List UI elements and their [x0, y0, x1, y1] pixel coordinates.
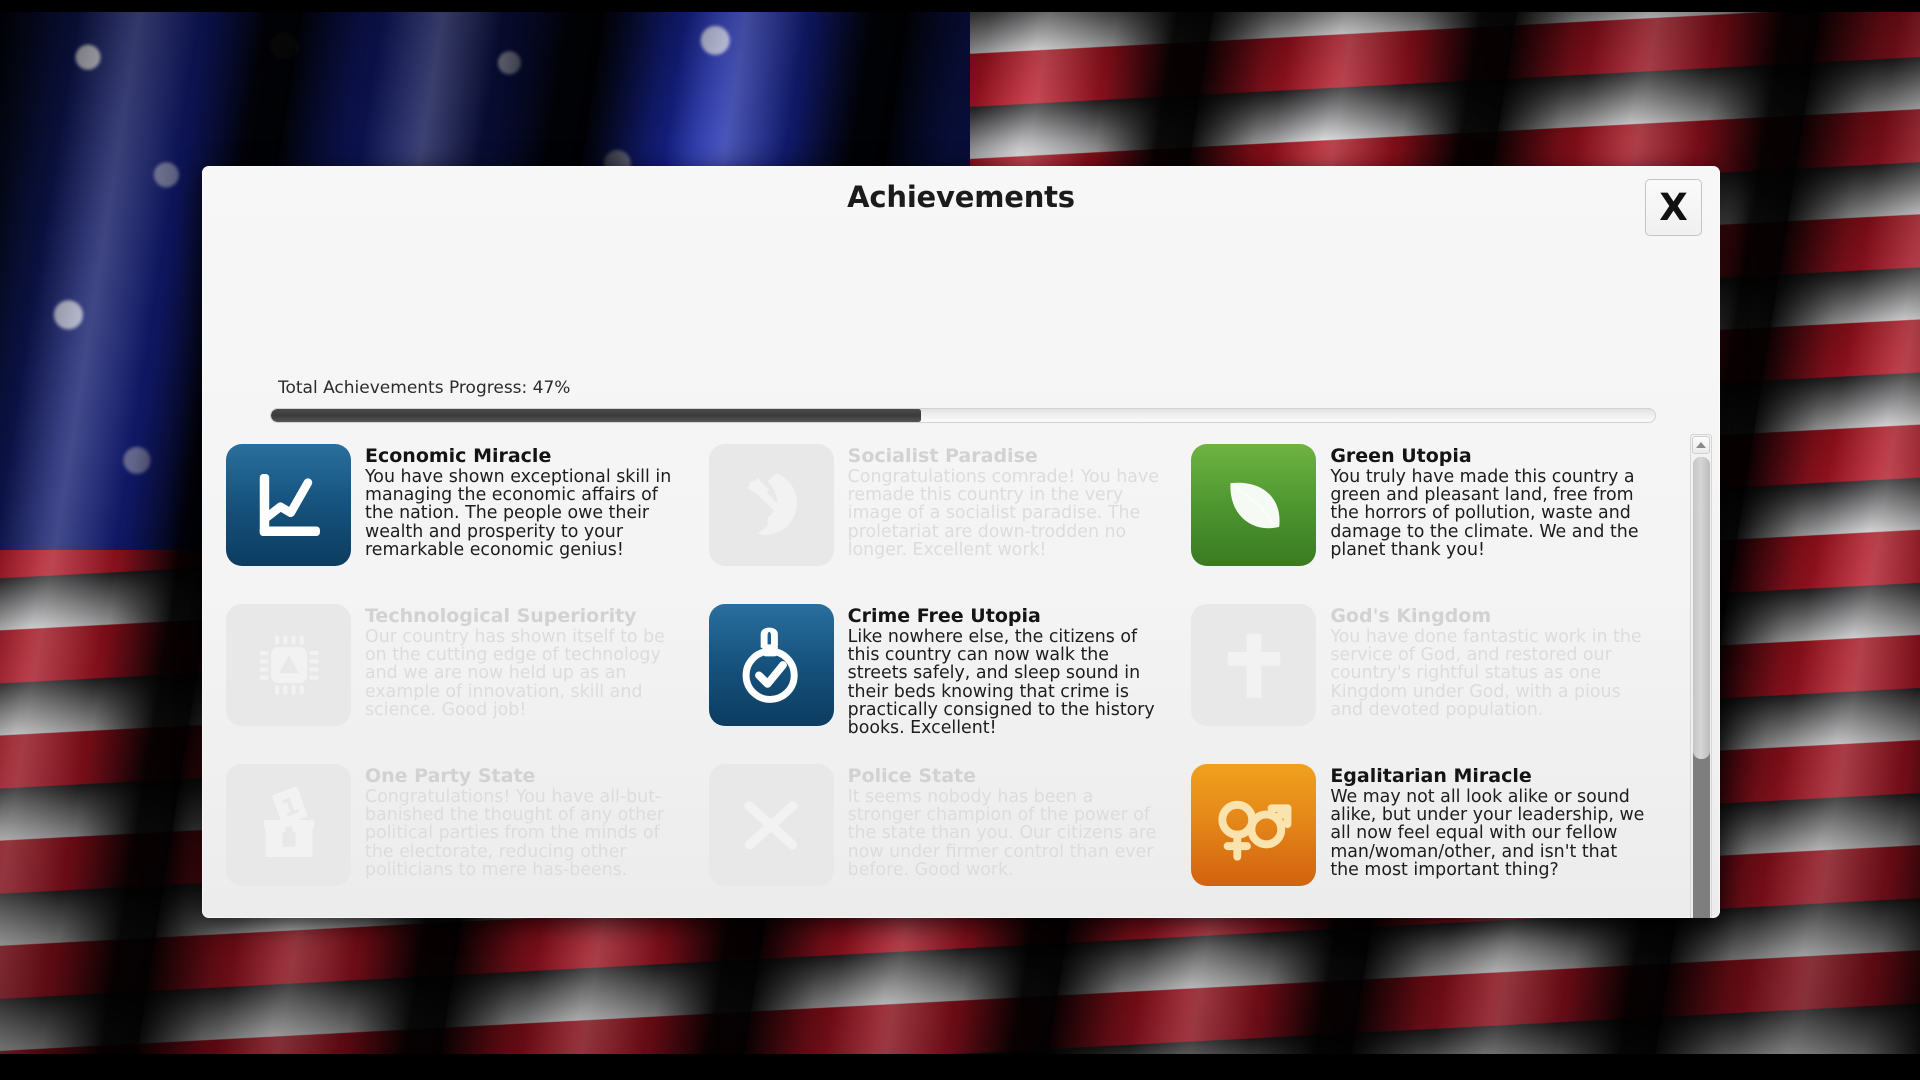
achievement-card[interactable]: Crime Free UtopiaLike nowhere else, the … — [705, 594, 1188, 754]
achievement-card[interactable]: 1One Party StateCongratulations! You hav… — [222, 754, 705, 914]
total-progress-bar — [270, 408, 1656, 423]
achievement-card[interactable]: God's KingdomYou have done fantastic wor… — [1187, 594, 1670, 754]
achievement-text: God's KingdomYou have done fantastic wor… — [1330, 604, 1650, 744]
progress-label: Total Achievements Progress: 47% — [278, 378, 570, 398]
achievement-title: Socialist Paradise — [848, 446, 1168, 467]
achievement-icon-tile — [1191, 444, 1316, 566]
line-chart-icon — [226, 444, 351, 566]
achievement-text: Crime Free UtopiaLike nowhere else, the … — [848, 604, 1168, 744]
hammer-and-sickle-icon — [709, 444, 834, 566]
achievement-description: You truly have made this country a green… — [1330, 468, 1650, 560]
achievement-card[interactable]: Free Market ParadiseWe can now truly hol… — [222, 914, 705, 918]
microchip-icon — [226, 604, 351, 726]
achievement-icon-tile — [709, 444, 834, 566]
venus-mars-icon — [1191, 764, 1316, 886]
achievement-icon-tile — [709, 604, 834, 726]
letterbox-top — [0, 0, 1920, 12]
leaf-icon — [1191, 444, 1316, 566]
cross-icon — [1191, 604, 1316, 726]
achievement-icon-tile: 1 — [226, 764, 351, 886]
achievement-description: We may not all look alike or sound alike… — [1330, 788, 1650, 880]
achievement-title: Economic Miracle — [365, 446, 685, 467]
achievement-icon-tile — [1191, 604, 1316, 726]
achievement-card[interactable]: Egalitarian MiracleWe may not all look a… — [1187, 754, 1670, 914]
achievement-icon-tile — [709, 764, 834, 886]
ballot-box-icon: 1 — [226, 764, 351, 886]
achievement-description: Congratulations comrade! You have remade… — [848, 468, 1168, 560]
achievement-text: Green UtopiaYou truly have made this cou… — [1330, 444, 1650, 584]
triangle-up-icon — [1696, 442, 1706, 448]
achievement-description: It seems nobody has been a stronger cham… — [848, 788, 1168, 880]
achievement-icon-tile — [1191, 764, 1316, 886]
achievements-scroll-area[interactable]: Economic MiracleYou have shown exception… — [222, 434, 1670, 918]
achievement-card[interactable]: Green UtopiaYou truly have made this cou… — [1187, 434, 1670, 594]
achievement-text: Police StateIt seems nobody has been a s… — [848, 764, 1168, 904]
achievement-text: Egalitarian MiracleWe may not all look a… — [1330, 764, 1650, 904]
achievement-title: Police State — [848, 766, 1168, 787]
crossed-batons-icon — [709, 764, 834, 886]
achievement-title: Green Utopia — [1330, 446, 1650, 467]
achievement-title: Egalitarian Miracle — [1330, 766, 1650, 787]
achievement-description: Our country has shown itself to be on th… — [365, 628, 685, 720]
letterbox-bottom — [0, 1054, 1920, 1080]
achievement-text: Socialist ParadiseCongratulations comrad… — [848, 444, 1168, 584]
achievement-icon-tile — [226, 444, 351, 566]
page-title: Achievements — [202, 180, 1720, 214]
close-button[interactable]: X — [1645, 179, 1702, 236]
achievement-text: Economic MiracleYou have shown exception… — [365, 444, 685, 584]
scrollbar-thumb[interactable] — [1693, 457, 1710, 759]
achievement-card[interactable]: Economic MiracleYou have shown exception… — [222, 434, 705, 594]
achievement-title: Technological Superiority — [365, 606, 685, 627]
achievement-icon-tile — [226, 604, 351, 726]
achievement-description: You have done fantastic work in the serv… — [1330, 628, 1650, 720]
achievement-text: One Party StateCongratulations! You have… — [365, 764, 685, 904]
achievement-card[interactable]: SurvivorThey say some politicians are po… — [705, 914, 1188, 918]
achievement-card[interactable]: Police StateIt seems nobody has been a s… — [705, 754, 1188, 914]
achievements-grid: Economic MiracleYou have shown exception… — [222, 434, 1670, 918]
achievements-dialog: Achievements X Total Achievements Progre… — [202, 166, 1720, 918]
achievement-card[interactable]: Socialist ParadiseCongratulations comrad… — [705, 434, 1188, 594]
vertical-scrollbar[interactable] — [1690, 434, 1712, 918]
achievement-description: Congratulations! You have all-but-banish… — [365, 788, 685, 880]
scrollbar-track[interactable] — [1693, 457, 1710, 918]
achievement-card[interactable]: Technological SuperiorityOur country has… — [222, 594, 705, 754]
achievement-card[interactable]: Poverty EradicatedNobody cheers as loud … — [1187, 914, 1670, 918]
total-progress-fill — [271, 409, 921, 422]
achievement-text: Technological SuperiorityOur country has… — [365, 604, 685, 744]
achievement-title: God's Kingdom — [1330, 606, 1650, 627]
achievement-title: One Party State — [365, 766, 685, 787]
achievement-description: You have shown exceptional skill in mana… — [365, 468, 685, 560]
achievement-description: Like nowhere else, the citizens of this … — [848, 628, 1168, 738]
achievement-title: Crime Free Utopia — [848, 606, 1168, 627]
scroll-up-button[interactable] — [1692, 436, 1710, 454]
padlock-check-icon — [709, 604, 834, 726]
